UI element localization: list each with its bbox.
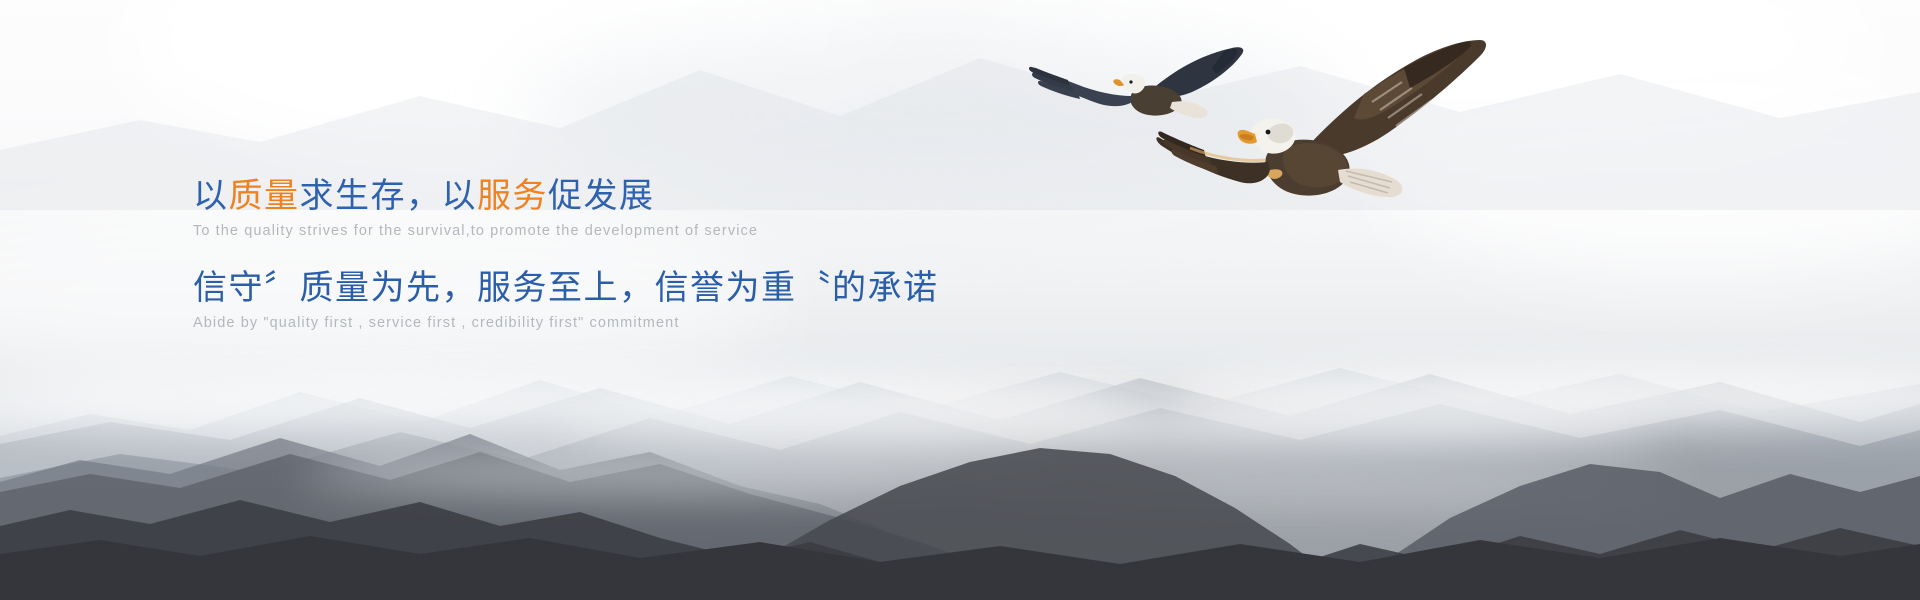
slogan-1-headline: 以质量求生存，以服务促发展	[193, 176, 1093, 216]
slogan-1-part-5: 促发展	[548, 177, 655, 215]
slogan-spacer	[193, 239, 1093, 268]
slogan-1-accent-service: 服务	[477, 177, 548, 215]
slogan-1-subtitle: To the quality strives for the survival,…	[193, 223, 1093, 239]
slogan-block: 以质量求生存，以服务促发展 To the quality strives for…	[193, 176, 1093, 331]
slogan-2-subtitle: Abide by "quality first , service first …	[193, 315, 1093, 331]
slogan-1-part-3: 求生存，以	[300, 177, 478, 215]
hero-banner: 以质量求生存，以服务促发展 To the quality strives for…	[0, 0, 1920, 600]
slogan-1-accent-quality: 质量	[229, 177, 300, 215]
slogan-1-part-1: 以	[193, 177, 229, 215]
slogan-2-text: 信守〞质量为先，服务至上，信誉为重〝的承诺	[193, 269, 939, 307]
slogan-2-headline: 信守〞质量为先，服务至上，信誉为重〝的承诺	[193, 268, 1093, 308]
